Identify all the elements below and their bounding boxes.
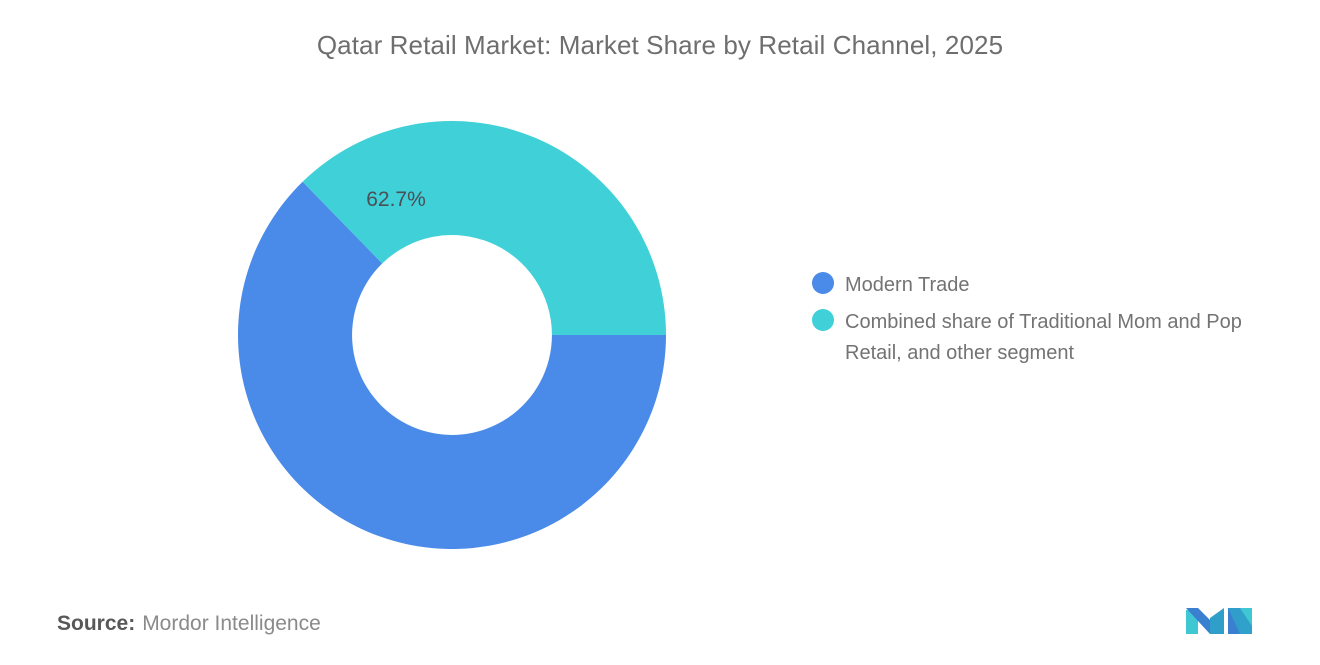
donut-chart bbox=[238, 121, 666, 549]
legend-swatch-icon bbox=[812, 309, 834, 331]
chart-title: Qatar Retail Market: Market Share by Ret… bbox=[0, 30, 1320, 61]
chart-legend: Modern Trade Combined share of Tradition… bbox=[812, 270, 1302, 375]
legend-item-label: Combined share of Traditional Mom and Po… bbox=[845, 307, 1295, 369]
legend-item-label: Modern Trade bbox=[845, 270, 970, 301]
source-value: Mordor Intelligence bbox=[142, 612, 321, 635]
legend-swatch-icon bbox=[812, 272, 834, 294]
source-label: Source: bbox=[57, 612, 135, 635]
donut-chart-svg bbox=[238, 121, 666, 549]
mordor-intelligence-logo-icon bbox=[1184, 598, 1256, 638]
source-line: Source:Mordor Intelligence bbox=[57, 612, 321, 636]
legend-item-combined-share[interactable]: Combined share of Traditional Mom and Po… bbox=[812, 307, 1302, 369]
legend-item-modern-trade[interactable]: Modern Trade bbox=[812, 270, 1302, 301]
donut-slices bbox=[238, 121, 666, 549]
